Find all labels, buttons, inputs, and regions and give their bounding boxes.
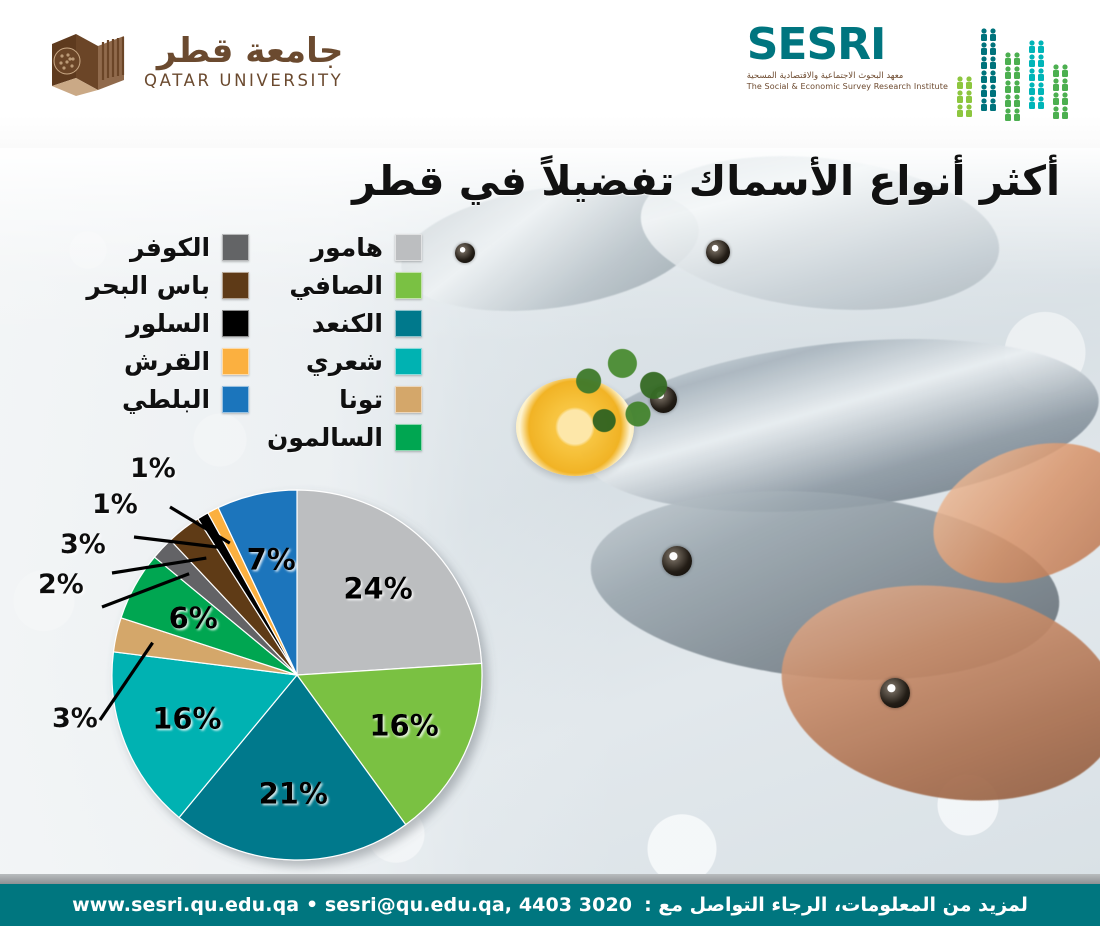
legend-column-left: الكوفر باس البحر السلور القرش البلطي xyxy=(86,228,249,456)
people-bar-chart-icon xyxy=(954,24,1072,124)
pie-slice-label: 7% xyxy=(247,543,296,577)
sesri-subtitle-english: The Social & Economic Survey Research In… xyxy=(747,82,948,91)
legend-item-shark[interactable]: القرش xyxy=(86,342,249,380)
legend-item-catfish[interactable]: السلور xyxy=(86,304,249,342)
fish-eye-2 xyxy=(706,240,730,264)
legend-item-tuna[interactable]: تونا xyxy=(267,380,422,418)
legend-swatch-kanad xyxy=(395,310,422,337)
footer-contact-details[interactable]: www.sesri.qu.edu.qa • sesri@qu.edu.qa, 4… xyxy=(72,894,632,916)
qu-name-english: QATAR UNIVERSITY xyxy=(144,71,343,90)
parsley-garnish xyxy=(560,348,690,458)
pie-slice-label: 21% xyxy=(259,776,328,810)
legend-item-hamour[interactable]: هامور xyxy=(267,228,422,266)
legend-item-kanad[interactable]: الكنعد xyxy=(267,304,422,342)
legend-label-sea-bass: باس البحر xyxy=(86,271,210,300)
legend-item-koufar[interactable]: الكوفر xyxy=(86,228,249,266)
footer-bar: لمزيد من المعلومات، الرجاء التواصل مع : … xyxy=(0,884,1100,926)
pie-slice-label: 3% xyxy=(60,529,106,560)
footer-contact-arabic: لمزيد من المعلومات، الرجاء التواصل مع : xyxy=(644,894,1028,916)
pie-slice-label: 16% xyxy=(152,702,221,736)
pie-chart: 24%16%21%16%3%6%2%3%1%1%7% xyxy=(30,455,500,885)
legend-swatch-tilapia xyxy=(222,386,249,413)
legend-swatch-hamour xyxy=(395,234,422,261)
legend-swatch-koufar xyxy=(222,234,249,261)
legend-swatch-catfish xyxy=(222,310,249,337)
pie-slice-label: 16% xyxy=(369,708,438,742)
infographic-poster: جامعة قطر QATAR UNIVERSITY SESRI معهد ال… xyxy=(0,0,1100,926)
qatar-university-logo[interactable]: جامعة قطر QATAR UNIVERSITY xyxy=(46,28,343,96)
legend-swatch-shaari xyxy=(395,348,422,375)
pie-slice-label: 24% xyxy=(343,572,412,606)
pie-slice-label: 1% xyxy=(92,489,138,520)
legend-swatch-safi xyxy=(395,272,422,299)
legend-item-salmon[interactable]: السالمون xyxy=(267,418,422,456)
pie-slice-label: 6% xyxy=(169,601,218,635)
chart-legend: هامور الصافي الكنعد شعري تونا السالمون xyxy=(22,228,422,456)
sesri-wordmark: SESRI xyxy=(747,24,886,66)
page-title: أكثر أنواع الأسماك تفضيلاً في قطر xyxy=(40,158,1060,205)
legend-label-safi: الصافي xyxy=(289,271,383,300)
legend-swatch-shark xyxy=(222,348,249,375)
sesri-subtitle-arabic: معهد البحوث الاجتماعية والاقتصادية المسح… xyxy=(747,71,904,81)
qatar-university-emblem-icon xyxy=(46,28,130,96)
sesri-logo[interactable]: SESRI معهد البحوث الاجتماعية والاقتصادية… xyxy=(747,24,1072,124)
pie-slice-label: 1% xyxy=(130,455,176,484)
qu-name-arabic: جامعة قطر xyxy=(157,34,344,70)
legend-label-hamour: هامور xyxy=(311,233,383,262)
legend-item-sea-bass[interactable]: باس البحر xyxy=(86,266,249,304)
legend-item-shaari[interactable]: شعري xyxy=(267,342,422,380)
legend-label-shaari: شعري xyxy=(306,347,383,376)
pie-slice-label: 2% xyxy=(38,569,84,600)
legend-swatch-salmon xyxy=(395,424,422,451)
legend-label-tuna: تونا xyxy=(339,385,383,414)
legend-label-shark: القرش xyxy=(124,347,210,376)
header-band: جامعة قطر QATAR UNIVERSITY SESRI معهد ال… xyxy=(0,0,1100,148)
fish-eye-1 xyxy=(455,243,475,263)
fish-eye-4 xyxy=(662,546,692,576)
legend-column-right: هامور الصافي الكنعد شعري تونا السالمون xyxy=(267,228,422,456)
footer-content: لمزيد من المعلومات، الرجاء التواصل مع : … xyxy=(72,894,1028,916)
pie-slice-label: 3% xyxy=(52,703,98,734)
legend-item-tilapia[interactable]: البلطي xyxy=(86,380,249,418)
footer-divider xyxy=(0,874,1100,884)
legend-swatch-sea-bass xyxy=(222,272,249,299)
legend-label-koufar: الكوفر xyxy=(130,233,210,262)
fish-eye-5 xyxy=(880,678,910,708)
legend-label-catfish: السلور xyxy=(126,309,210,338)
legend-swatch-tuna xyxy=(395,386,422,413)
legend-item-safi[interactable]: الصافي xyxy=(267,266,422,304)
legend-label-salmon: السالمون xyxy=(267,423,383,452)
legend-label-kanad: الكنعد xyxy=(312,309,383,338)
legend-label-tilapia: البلطي xyxy=(122,385,210,414)
